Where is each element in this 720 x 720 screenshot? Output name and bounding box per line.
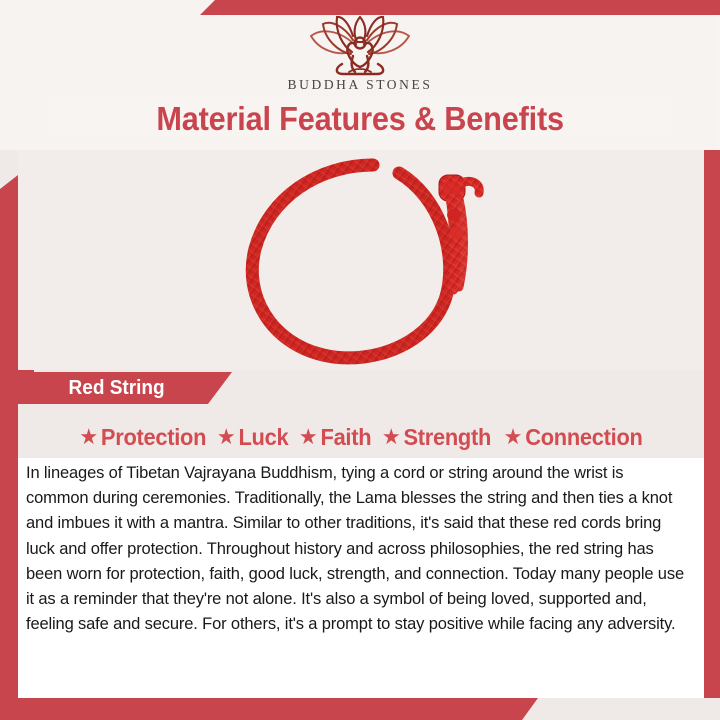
lotus-meditating-figure-icon [299, 14, 421, 76]
feature-label: Strength [403, 424, 491, 451]
description-block: In lineages of Tibetan Vajrayana Buddhis… [18, 458, 704, 698]
page-title-text: Material Features & Benefits [156, 100, 564, 138]
red-string-bracelet-image [223, 153, 493, 368]
page-title: Material Features & Benefits [0, 96, 720, 142]
star-icon: ★ [79, 426, 98, 448]
bottom-accent-band [0, 698, 720, 720]
feature-item-strength: ★ Strength [382, 424, 491, 451]
brand-name: BUDDHA STONES [288, 77, 433, 93]
right-accent-bar [704, 150, 720, 698]
infographic-page: BUDDHA STONES Material Features & Benefi… [0, 0, 720, 720]
left-accent-bar [0, 175, 18, 702]
feature-item-protection: ★ Protection [79, 424, 206, 451]
feature-label: Faith [320, 424, 371, 451]
feature-list: ★ Protection ★ Luck ★ Faith ★ Strength ★… [18, 420, 704, 454]
star-icon: ★ [382, 426, 401, 448]
feature-item-connection: ★ Connection [503, 424, 642, 451]
star-icon: ★ [217, 426, 236, 448]
material-name-ribbon: Red String [0, 372, 232, 404]
feature-label: Luck [239, 424, 289, 451]
feature-label: Protection [101, 424, 206, 451]
feature-label: Connection [525, 424, 642, 451]
star-icon: ★ [503, 426, 522, 448]
feature-item-faith: ★ Faith [299, 424, 371, 451]
star-icon: ★ [299, 426, 318, 448]
product-image-area [18, 150, 704, 370]
brand-logo: BUDDHA STONES [0, 14, 720, 94]
material-name-label: Red String [69, 377, 165, 400]
description-text: In lineages of Tibetan Vajrayana Buddhis… [26, 460, 685, 637]
feature-item-luck: ★ Luck [217, 424, 288, 451]
